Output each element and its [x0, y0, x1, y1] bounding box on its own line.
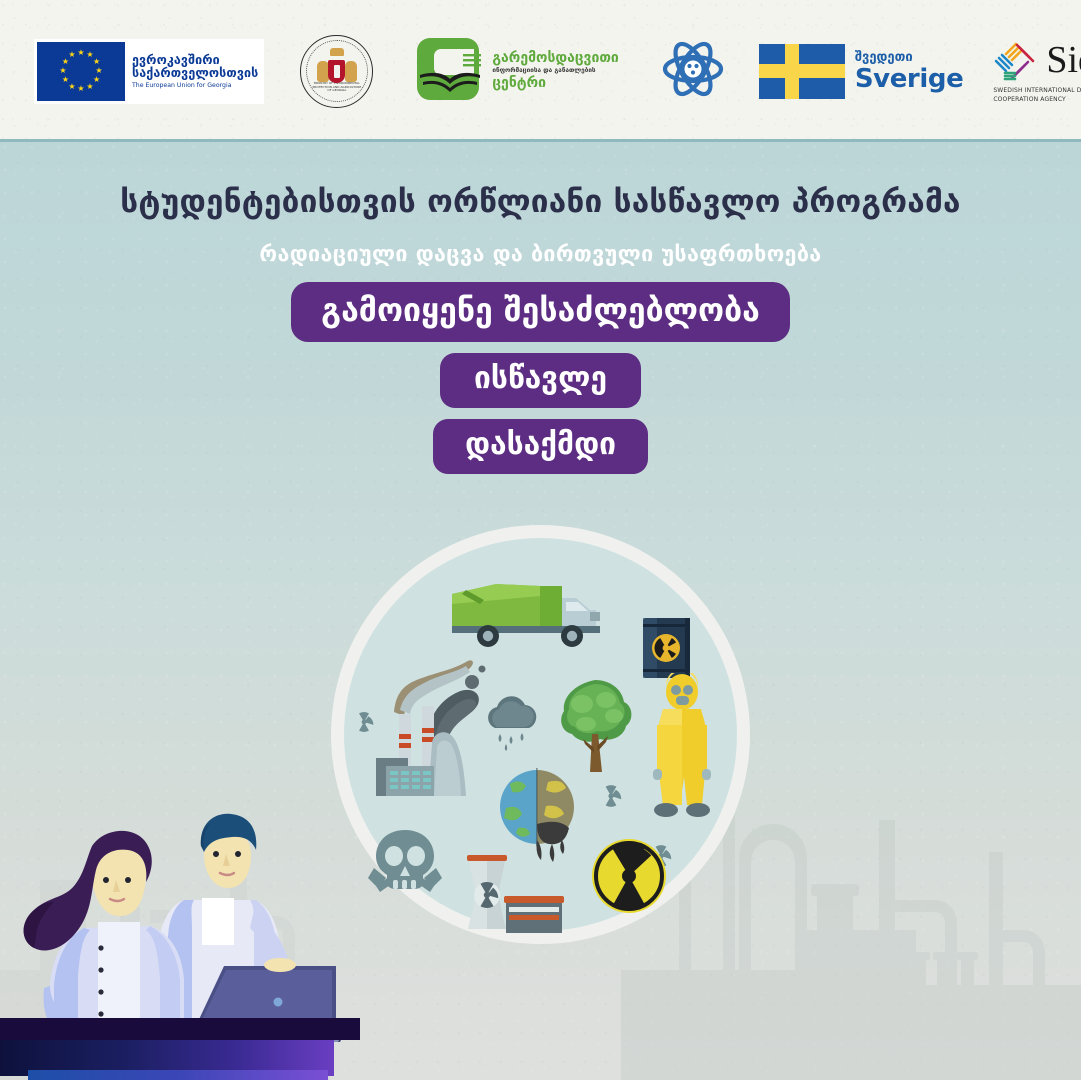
sweden-logo-line2: Sverige [855, 66, 964, 92]
book-shape-icon [419, 69, 481, 100]
eu-star-icon: ★ [86, 83, 93, 91]
eu-star-icon: ★ [77, 85, 84, 93]
eu-star-icon: ★ [62, 76, 69, 84]
eu-star-icon: ★ [93, 76, 100, 84]
badge-study[interactable]: ისწავლე [440, 353, 641, 408]
logo-environmental-education-centre: გარემოსდაცვითი ინფორმაციისა და განათლები… [417, 38, 618, 104]
sweden-flag-icon [759, 44, 845, 99]
logo-european-union-for-georgia: ★★★★★★★★★★★★ ევროკავშირი საქართველოსთვის… [34, 39, 264, 104]
eu-star-icon: ★ [93, 58, 100, 66]
nuclear-cooling-tower-icon [454, 851, 569, 941]
env-logo-line1: გარემოსდაცვითი [492, 51, 618, 67]
coat-of-arms-caption: MINISTRY OF ENVIRONMENTALPROTECTION AND … [307, 82, 367, 93]
eu-logo-line3: The European Union for Georgia [132, 83, 258, 90]
sida-subtitle: SWEDISH INTERNATIONAL DEVELOPMENT COOPER… [993, 87, 1081, 104]
atom-icon [661, 37, 725, 101]
student-female [24, 831, 184, 1034]
logo-sida: Sida SWEDISH INTERNATIONAL DEVELOPMENT C… [993, 37, 1081, 104]
eu-star-icon: ★ [68, 83, 75, 91]
poster-root: ★★★★★★★★★★★★ ევროკავშირი საქართველოსთვის… [0, 0, 1081, 1080]
sida-subtitle-line2: COOPERATION AGENCY [993, 96, 1066, 103]
sida-subtitle-line1: SWEDISH INTERNATIONAL DEVELOPMENT [993, 87, 1081, 94]
sida-wordmark: Sida [1046, 41, 1081, 79]
coat-of-arms-icon: MINISTRY OF ENVIRONMENTALPROTECTION AND … [300, 35, 373, 108]
page-title: სტუდენტებისთვის ორწლიანი სასწავლო პროგრა… [0, 184, 1081, 220]
garbage-truck-icon [444, 576, 609, 654]
logo-sweden-sverige: შვედეთი Sverige [759, 44, 964, 99]
eu-star-icon: ★ [77, 49, 84, 57]
badge-employment[interactable]: დასაქმდი [433, 419, 648, 474]
eu-star-icon: ★ [95, 67, 102, 75]
eu-star-icon: ★ [68, 51, 75, 59]
lines-accent-icon [463, 54, 481, 68]
environment-icons-circle [331, 525, 750, 944]
eu-logo-line1: ევროკავშირი [132, 53, 258, 67]
radiation-trefoil-small-icon [599, 784, 623, 808]
tree-icon [554, 676, 636, 774]
partner-logo-band: ★★★★★★★★★★★★ ევროკავშირი საქართველოსთვის… [0, 0, 1081, 142]
desk-surface [0, 1018, 360, 1040]
desk-accent-strip [28, 1070, 328, 1080]
badge-list: გამოიყენე შესაძლებლობა ისწავლე დასაქმდი [0, 282, 1081, 474]
radiation-warning-sign-icon [589, 836, 669, 916]
eu-star-icon: ★ [59, 67, 66, 75]
sida-pinwheel-icon [993, 37, 1039, 83]
eu-logo-line2: საქართველოსთვის [132, 66, 258, 80]
circle-inner-face [344, 538, 737, 931]
env-logo-line3: ცენტრი [492, 76, 618, 92]
env-logo-line2: ინფორმაციისა და განათლების [492, 67, 618, 74]
rain-cloud-icon [481, 696, 543, 754]
page-subtitle: რადიაციული დაცვა და ბირთვული უსაფრთხოება [0, 242, 1081, 267]
logo-atom [661, 37, 725, 105]
logo-government-of-georgia: MINISTRY OF ENVIRONMENTALPROTECTION AND … [300, 35, 373, 108]
hand [264, 958, 296, 972]
radiation-trefoil-small-icon [353, 711, 375, 733]
poster-body: სტუდენტებისთვის ორწლიანი სასწავლო პროგრა… [0, 142, 1081, 1080]
sweden-logo-line1: შვედეთი [855, 51, 964, 64]
green-book-icon [417, 38, 485, 104]
badge-opportunity[interactable]: გამოიყენე შესაძლებლობა [291, 282, 790, 342]
hazmat-suit-person-icon [646, 673, 718, 823]
eu-flag-icon: ★★★★★★★★★★★★ [37, 42, 125, 101]
